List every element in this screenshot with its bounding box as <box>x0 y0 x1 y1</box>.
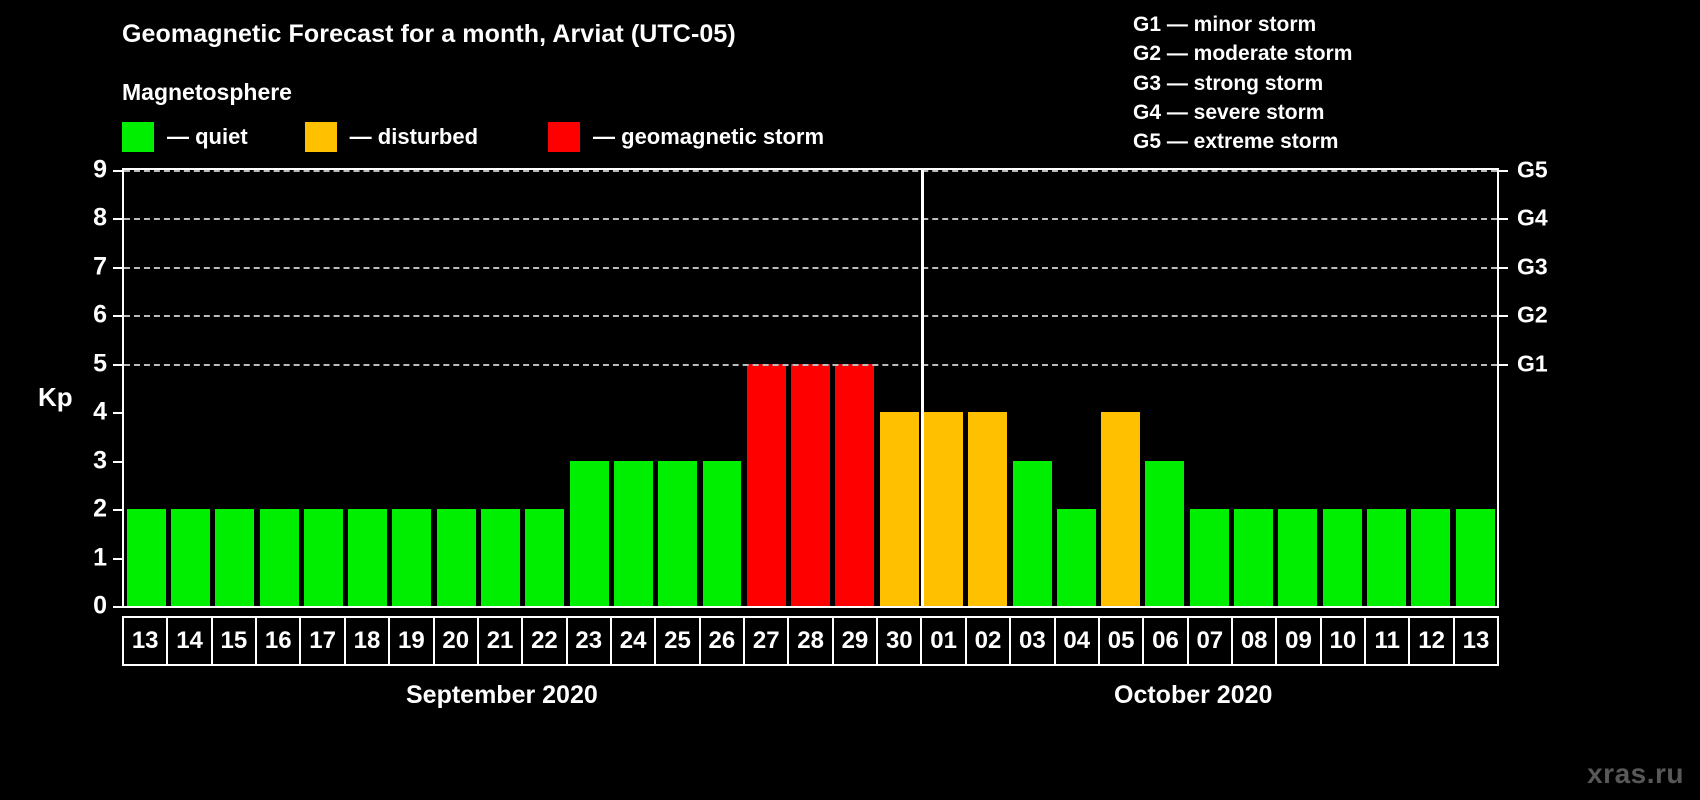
bar-slot[interactable] <box>478 170 522 606</box>
bar-day-01[interactable] <box>924 412 963 606</box>
y-tick-label-9: 9 <box>67 156 107 185</box>
bar-slot[interactable] <box>700 170 744 606</box>
bar-day-08[interactable] <box>1234 509 1273 606</box>
g-tick-label-G4: G4 <box>1517 205 1548 232</box>
bar-slot[interactable] <box>611 170 655 606</box>
bar-day-22[interactable] <box>525 509 564 606</box>
bar-slot[interactable] <box>345 170 389 606</box>
bar-slot[interactable] <box>833 170 877 606</box>
bar-day-25[interactable] <box>658 461 697 606</box>
day-label-07[interactable]: 07 <box>1189 618 1233 664</box>
day-label-20[interactable]: 20 <box>435 618 479 664</box>
legend-swatch-disturbed <box>305 122 337 152</box>
legend-item-quiet: — quiet <box>122 122 248 152</box>
bar-day-09[interactable] <box>1278 509 1317 606</box>
day-label-14[interactable]: 14 <box>168 618 212 664</box>
gridline-kp-7 <box>124 267 1497 269</box>
day-label-06[interactable]: 06 <box>1144 618 1188 664</box>
day-label-13[interactable]: 13 <box>124 618 168 664</box>
bar-slot[interactable] <box>567 170 611 606</box>
month-caption-october: October 2020 <box>1114 681 1272 710</box>
bar-slot[interactable] <box>1143 170 1187 606</box>
legend-swatch-quiet <box>122 122 154 152</box>
bar-day-12[interactable] <box>1411 509 1450 606</box>
g-tick-G2 <box>1497 315 1508 317</box>
day-label-29[interactable]: 29 <box>834 618 878 664</box>
bar-slot[interactable] <box>966 170 1010 606</box>
g-tick-G1 <box>1497 364 1508 366</box>
day-label-08[interactable]: 08 <box>1233 618 1277 664</box>
bar-day-15[interactable] <box>215 509 254 606</box>
y-tick-label-8: 8 <box>67 204 107 233</box>
y-tick-7 <box>113 267 124 269</box>
day-label-03[interactable]: 03 <box>1011 618 1055 664</box>
bar-day-21[interactable] <box>481 509 520 606</box>
day-label-25[interactable]: 25 <box>656 618 700 664</box>
y-tick-5 <box>113 364 124 366</box>
plot-inner <box>124 170 1497 606</box>
g-scale-line-1: G1 — minor storm <box>1133 10 1352 39</box>
bar-day-14[interactable] <box>171 509 210 606</box>
bar-day-17[interactable] <box>304 509 343 606</box>
legend-item-disturbed: — disturbed <box>305 122 478 152</box>
bar-slot[interactable] <box>257 170 301 606</box>
bar-slot[interactable] <box>1010 170 1054 606</box>
bar-day-13[interactable] <box>127 509 166 606</box>
y-tick-2 <box>113 509 124 511</box>
day-label-05[interactable]: 05 <box>1100 618 1144 664</box>
day-label-27[interactable]: 27 <box>745 618 789 664</box>
chart-plot-area: 0123456789G1G2G3G4G5 <box>122 168 1499 608</box>
g-scale-line-2: G2 — moderate storm <box>1133 39 1352 68</box>
day-label-02[interactable]: 02 <box>967 618 1011 664</box>
bar-day-19[interactable] <box>392 509 431 606</box>
y-axis-title: Kp <box>38 382 73 413</box>
bar-slot[interactable] <box>434 170 478 606</box>
bar-slot[interactable] <box>124 170 168 606</box>
y-tick-label-0: 0 <box>67 592 107 621</box>
bar-slot[interactable] <box>390 170 434 606</box>
bar-day-10[interactable] <box>1323 509 1362 606</box>
y-tick-3 <box>113 461 124 463</box>
day-label-13[interactable]: 13 <box>1455 618 1497 664</box>
bar-slot[interactable] <box>744 170 788 606</box>
gridline-kp-5 <box>124 364 1497 366</box>
g-tick-G4 <box>1497 218 1508 220</box>
day-label-28[interactable]: 28 <box>789 618 833 664</box>
gridline-kp-6 <box>124 315 1497 317</box>
bar-slot[interactable] <box>523 170 567 606</box>
day-label-22[interactable]: 22 <box>523 618 567 664</box>
bar-day-24[interactable] <box>614 461 653 606</box>
bar-series <box>124 170 1497 606</box>
y-tick-4 <box>113 412 124 414</box>
day-label-10[interactable]: 10 <box>1322 618 1366 664</box>
g-tick-label-G2: G2 <box>1517 302 1548 329</box>
bar-slot[interactable] <box>1231 170 1275 606</box>
day-label-21[interactable]: 21 <box>479 618 523 664</box>
bar-day-02[interactable] <box>968 412 1007 606</box>
bar-slot[interactable] <box>1099 170 1143 606</box>
y-tick-label-3: 3 <box>67 446 107 475</box>
bar-day-29[interactable] <box>835 364 874 606</box>
y-tick-8 <box>113 218 124 220</box>
magnetosphere-label: Magnetosphere <box>122 79 292 106</box>
day-label-26[interactable]: 26 <box>701 618 745 664</box>
bar-slot[interactable] <box>213 170 257 606</box>
bar-day-06[interactable] <box>1145 461 1184 606</box>
g-tick-G3 <box>1497 267 1508 269</box>
bar-slot[interactable] <box>1054 170 1098 606</box>
day-label-19[interactable]: 19 <box>390 618 434 664</box>
g-tick-label-G3: G3 <box>1517 253 1548 280</box>
bar-day-11[interactable] <box>1367 509 1406 606</box>
g-scale-legend: G1 — minor stormG2 — moderate stormG3 — … <box>1133 10 1352 156</box>
day-label-strip: 1314151617181920212223242526272829300102… <box>122 616 1499 666</box>
bar-day-18[interactable] <box>348 509 387 606</box>
day-label-23[interactable]: 23 <box>568 618 612 664</box>
bar-day-13[interactable] <box>1456 509 1495 606</box>
legend: — quiet— disturbed— geomagnetic storm <box>122 122 824 152</box>
y-tick-6 <box>113 315 124 317</box>
g-scale-line-4: G4 — severe storm <box>1133 98 1352 127</box>
day-label-01[interactable]: 01 <box>922 618 966 664</box>
bar-slot[interactable] <box>1364 170 1408 606</box>
day-label-16[interactable]: 16 <box>257 618 301 664</box>
y-tick-1 <box>113 558 124 560</box>
y-tick-9 <box>113 170 124 172</box>
watermark: xras.ru <box>1587 758 1684 790</box>
bar-slot[interactable] <box>877 170 921 606</box>
y-tick-label-7: 7 <box>67 252 107 281</box>
y-tick-label-6: 6 <box>67 301 107 330</box>
bar-day-05[interactable] <box>1101 412 1140 606</box>
bar-slot[interactable] <box>1187 170 1231 606</box>
bar-day-26[interactable] <box>703 461 742 606</box>
month-divider-line <box>921 168 924 608</box>
g-tick-G5 <box>1497 170 1508 172</box>
bar-slot[interactable] <box>921 170 965 606</box>
day-label-04[interactable]: 04 <box>1056 618 1100 664</box>
legend-swatch-storm <box>548 122 580 152</box>
bar-day-28[interactable] <box>791 364 830 606</box>
day-label-17[interactable]: 17 <box>301 618 345 664</box>
y-tick-0 <box>113 606 124 608</box>
month-caption-september: September 2020 <box>406 681 598 710</box>
bar-slot[interactable] <box>301 170 345 606</box>
bar-slot[interactable] <box>788 170 832 606</box>
day-label-30[interactable]: 30 <box>878 618 922 664</box>
bar-slot[interactable] <box>1320 170 1364 606</box>
legend-label-disturbed: — disturbed <box>350 124 478 150</box>
bar-day-04[interactable] <box>1057 509 1096 606</box>
y-tick-label-5: 5 <box>67 349 107 378</box>
bar-day-27[interactable] <box>747 364 786 606</box>
y-tick-label-4: 4 <box>67 398 107 427</box>
bar-day-20[interactable] <box>437 509 476 606</box>
g-scale-line-3: G3 — strong storm <box>1133 69 1352 98</box>
legend-item-storm: — geomagnetic storm <box>548 122 824 152</box>
gridline-kp-9 <box>124 170 1497 172</box>
day-label-24[interactable]: 24 <box>612 618 656 664</box>
legend-label-quiet: — quiet <box>167 124 248 150</box>
bar-day-23[interactable] <box>570 461 609 606</box>
gridline-kp-8 <box>124 218 1497 220</box>
day-label-09[interactable]: 09 <box>1277 618 1321 664</box>
bar-day-30[interactable] <box>880 412 919 606</box>
day-label-12[interactable]: 12 <box>1410 618 1454 664</box>
bar-slot[interactable] <box>656 170 700 606</box>
bar-slot[interactable] <box>1409 170 1453 606</box>
bar-slot[interactable] <box>1276 170 1320 606</box>
bar-day-07[interactable] <box>1190 509 1229 606</box>
bar-slot[interactable] <box>1453 170 1497 606</box>
page-title: Geomagnetic Forecast for a month, Arviat… <box>122 20 736 49</box>
g-tick-label-G5: G5 <box>1517 157 1548 184</box>
day-label-11[interactable]: 11 <box>1366 618 1410 664</box>
legend-label-storm: — geomagnetic storm <box>593 124 824 150</box>
bar-day-03[interactable] <box>1013 461 1052 606</box>
y-tick-label-1: 1 <box>67 543 107 572</box>
g-scale-line-5: G5 — extreme storm <box>1133 127 1352 156</box>
bar-slot[interactable] <box>168 170 212 606</box>
bar-day-16[interactable] <box>260 509 299 606</box>
day-label-18[interactable]: 18 <box>346 618 390 664</box>
y-tick-label-2: 2 <box>67 495 107 524</box>
day-label-15[interactable]: 15 <box>213 618 257 664</box>
g-tick-label-G1: G1 <box>1517 350 1548 377</box>
